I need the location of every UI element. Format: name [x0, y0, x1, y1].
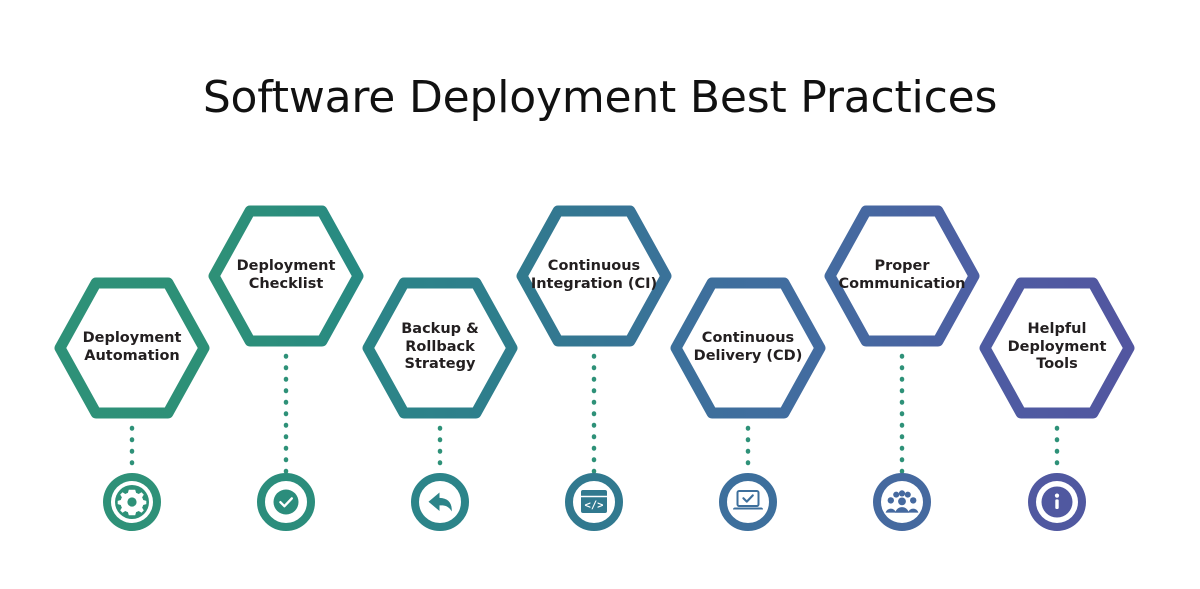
- laptop-check-icon: [733, 491, 763, 510]
- hex-node-continuous-delivery[interactable]: Continuous Delivery (CD): [676, 283, 820, 413]
- icon-core-check: [274, 490, 299, 515]
- icon-inner-disc-people: [881, 481, 923, 523]
- hex-node-deployment-automation[interactable]: Deployment Automation: [60, 283, 204, 413]
- icon-ring-gear: [103, 473, 161, 531]
- icon-ring-code: [569, 477, 619, 527]
- info-circle-icon: [1055, 494, 1059, 510]
- hex-label-backup-rollback-strategy: Backup & Rollback Strategy: [368, 321, 512, 374]
- icon-node-laptop[interactable]: [723, 477, 773, 527]
- hex-label-deployment-checklist: Deployment Checklist: [214, 258, 358, 293]
- icon-inner-disc-info: [1036, 481, 1078, 523]
- hex-label-continuous-delivery: Continuous Delivery (CD): [676, 330, 820, 365]
- hex-node-continuous-integration[interactable]: Continuous Integration (CI): [522, 211, 666, 341]
- people-group-icon: [886, 490, 919, 513]
- icon-node-gear[interactable]: [103, 473, 161, 531]
- icon-core-info: [1042, 487, 1073, 518]
- code-window-icon: [581, 490, 607, 513]
- icon-ring-back-arrow: [415, 477, 465, 527]
- hex-label-continuous-integration: Continuous Integration (CI): [522, 258, 666, 293]
- icon-node-back-arrow[interactable]: [415, 477, 465, 527]
- infographic-root: Software Deployment Best Practices: [0, 0, 1200, 589]
- hex-node-helpful-deployment-tools[interactable]: Helpful Deployment Tools: [985, 283, 1129, 413]
- gear-icon: [118, 490, 147, 515]
- icon-ring-laptop: [723, 477, 773, 527]
- page-title: Software Deployment Best Practices: [0, 72, 1200, 123]
- icon-core-gear: [115, 485, 149, 519]
- icon-node-code[interactable]: </>: [569, 477, 619, 527]
- dotted-connectors: [132, 356, 1057, 474]
- icon-ring-check: [261, 477, 311, 527]
- hex-label-helpful-deployment-tools: Helpful Deployment Tools: [985, 321, 1129, 374]
- hex-node-deployment-checklist[interactable]: Deployment Checklist: [214, 211, 358, 341]
- icon-inner-disc-gear: [111, 481, 153, 523]
- icon-node-info[interactable]: [1028, 473, 1086, 531]
- back-arrow-icon: [429, 493, 452, 512]
- code-window-glyph: </>: [585, 499, 604, 511]
- icon-node-people[interactable]: [873, 473, 931, 531]
- icon-node-check[interactable]: [261, 477, 311, 527]
- check-circle-icon: [280, 498, 291, 506]
- icon-ring-people: [873, 473, 931, 531]
- hex-label-deployment-automation: Deployment Automation: [60, 330, 204, 365]
- hex-label-proper-communication: Proper Communication: [830, 258, 974, 293]
- icon-ring-info: [1028, 473, 1086, 531]
- hex-node-proper-communication[interactable]: Proper Communication: [830, 211, 974, 341]
- hex-node-backup-rollback-strategy[interactable]: Backup & Rollback Strategy: [368, 283, 512, 413]
